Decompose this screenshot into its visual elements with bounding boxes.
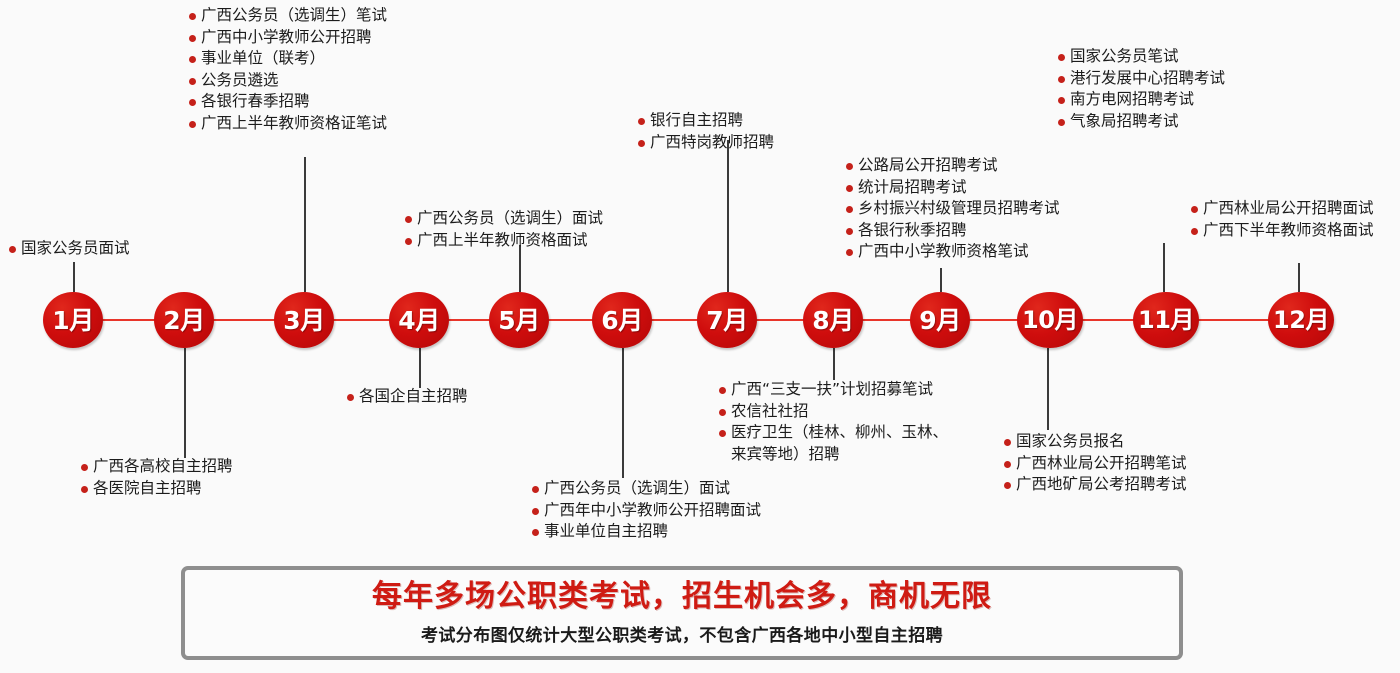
list-item-continuation: 来宾等地）招聘 [718,444,948,466]
label-list: 银行自主招聘 广西特岗教师招聘 [637,110,774,153]
list-item: 公路局公开招聘考试 [845,155,1060,177]
label-group-feb-below: 广西各高校自主招聘 各医院自主招聘 [80,456,233,499]
label-list: 国家公务员笔试 港行发展中心招聘考试 南方电网招聘考试 气象局招聘考试 [1057,46,1225,132]
month-node-8[interactable]: 8月 [803,292,863,348]
list-item: 广西地矿局公考招聘考试 [1003,474,1187,496]
month-label-11: 11月 [1138,308,1194,332]
label-group-sep-above: 公路局公开招聘考试 统计局招聘考试 乡村振兴村级管理员招聘考试 各银行秋季招聘 … [845,155,1060,263]
month-node-10[interactable]: 10月 [1017,292,1083,348]
label-group-aug-below: 广西“三支一扶”计划招募笔试 农信社社招 医疗卫生（桂林、柳州、玉林、 来宾等地… [718,379,948,465]
label-list: 公路局公开招聘考试 统计局招聘考试 乡村振兴村级管理员招聘考试 各银行秋季招聘 … [845,155,1060,263]
list-item: 乡村振兴村级管理员招聘考试 [845,198,1060,220]
stem-jun-below [622,348,624,478]
list-item: 广西林业局公开招聘面试 [1190,198,1374,220]
label-list: 广西公务员（选调生）笔试 广西中小学教师公开招聘 事业单位（联考） 公务员遴选 … [188,5,387,134]
month-node-5[interactable]: 5月 [489,292,549,348]
list-item: 统计局招聘考试 [845,177,1060,199]
month-node-12[interactable]: 12月 [1268,292,1334,348]
month-node-1[interactable]: 1月 [43,292,103,348]
stem-aug-below [833,348,835,380]
label-group-nov-above: 国家公务员笔试 港行发展中心招聘考试 南方电网招聘考试 气象局招聘考试 [1057,46,1225,132]
list-item: 气象局招聘考试 [1057,111,1225,133]
label-group-jan-above: 国家公务员面试 [8,238,130,260]
list-item: 医疗卫生（桂林、柳州、玉林、 [718,422,948,444]
stem-nov-above [1163,243,1165,292]
list-item: 广西公务员（选调生）笔试 [188,5,387,27]
list-item: 广西特岗教师招聘 [637,132,774,154]
month-label-5: 5月 [498,308,539,333]
list-item: 广西中小学教师资格笔试 [845,241,1060,263]
month-label-2: 2月 [163,308,204,333]
list-item: 南方电网招聘考试 [1057,89,1225,111]
stem-oct-below [1047,348,1049,430]
list-item: 港行发展中心招聘考试 [1057,68,1225,90]
stem-may-above [519,245,521,292]
month-label-12: 12月 [1273,308,1329,332]
list-item: 各国企自主招聘 [346,386,468,408]
list-item: 广西各高校自主招聘 [80,456,233,478]
list-item: 银行自主招聘 [637,110,774,132]
stem-sep-above [940,268,942,292]
list-item: 国家公务员面试 [8,238,130,260]
month-node-3[interactable]: 3月 [274,292,334,348]
label-group-dec-above: 广西林业局公开招聘面试 广西下半年教师资格面试 [1190,198,1374,241]
month-label-7: 7月 [706,308,747,333]
month-label-3: 3月 [283,308,324,333]
label-group-feb-above: 广西公务员（选调生）笔试 广西中小学教师公开招聘 事业单位（联考） 公务员遴选 … [188,5,387,134]
label-group-oct-below: 国家公务员报名 广西林业局公开招聘笔试 广西地矿局公考招聘考试 [1003,431,1187,496]
list-item: 广西公务员（选调生）面试 [404,208,603,230]
list-item: 广西林业局公开招聘笔试 [1003,453,1187,475]
list-item: 各银行春季招聘 [188,91,387,113]
label-list: 国家公务员报名 广西林业局公开招聘笔试 广西地矿局公考招聘考试 [1003,431,1187,496]
list-item: 广西公务员（选调生）面试 [531,478,761,500]
timeline-infographic: 1月 2月 3月 4月 5月 6月 7月 8月 9月 10月 11月 12月 国… [0,0,1400,673]
summary-banner: 每年多场公职类考试，招生机会多，商机无限 考试分布图仅统计大型公职类考试，不包含… [181,566,1183,660]
label-group-apr-below: 各国企自主招聘 [346,386,468,408]
label-list: 广西“三支一扶”计划招募笔试 农信社社招 医疗卫生（桂林、柳州、玉林、 来宾等地… [718,379,948,465]
month-label-1: 1月 [52,308,93,333]
stem-jul-above [727,140,729,292]
month-node-4[interactable]: 4月 [389,292,449,348]
month-label-10: 10月 [1022,308,1078,332]
label-list: 广西各高校自主招聘 各医院自主招聘 [80,456,233,499]
label-list: 广西林业局公开招聘面试 广西下半年教师资格面试 [1190,198,1374,241]
stem-apr-below [419,348,421,388]
list-item: 广西上半年教师资格面试 [404,230,603,252]
list-item: 广西下半年教师资格面试 [1190,220,1374,242]
list-item: 事业单位自主招聘 [531,521,761,543]
label-list: 广西公务员（选调生）面试 广西年中小学教师公开招聘面试 事业单位自主招聘 [531,478,761,543]
list-item: 广西“三支一扶”计划招募笔试 [718,379,948,401]
banner-title: 每年多场公职类考试，招生机会多，商机无限 [372,580,992,615]
label-list: 广西公务员（选调生）面试 广西上半年教师资格面试 [404,208,603,251]
stem-mar-above [304,157,306,292]
label-group-jun-below: 广西公务员（选调生）面试 广西年中小学教师公开招聘面试 事业单位自主招聘 [531,478,761,543]
month-node-6[interactable]: 6月 [592,292,652,348]
list-item: 国家公务员笔试 [1057,46,1225,68]
stem-jan-above [73,262,75,292]
list-item: 国家公务员报名 [1003,431,1187,453]
month-label-6: 6月 [601,308,642,333]
month-node-7[interactable]: 7月 [697,292,757,348]
list-item: 公务员遴选 [188,70,387,92]
month-label-8: 8月 [812,308,853,333]
list-item: 农信社社招 [718,401,948,423]
month-label-4: 4月 [398,308,439,333]
month-node-11[interactable]: 11月 [1133,292,1199,348]
label-list: 各国企自主招聘 [346,386,468,408]
list-item: 各银行秋季招聘 [845,220,1060,242]
month-label-9: 9月 [919,308,960,333]
label-group-jul-above: 银行自主招聘 广西特岗教师招聘 [637,110,774,153]
list-item: 事业单位（联考） [188,48,387,70]
list-item: 各医院自主招聘 [80,478,233,500]
label-group-may-above: 广西公务员（选调生）面试 广西上半年教师资格面试 [404,208,603,251]
stem-feb-below [184,348,186,458]
list-item: 广西年中小学教师公开招聘面试 [531,500,761,522]
list-item: 广西中小学教师公开招聘 [188,27,387,49]
stem-dec-above [1298,263,1300,292]
label-list: 国家公务员面试 [8,238,130,260]
month-node-9[interactable]: 9月 [910,292,970,348]
month-node-2[interactable]: 2月 [154,292,214,348]
banner-subtitle: 考试分布图仅统计大型公职类考试，不包含广西各地中小型自主招聘 [421,621,943,646]
timeline-axis [73,319,1299,321]
list-item: 广西上半年教师资格证笔试 [188,113,387,135]
